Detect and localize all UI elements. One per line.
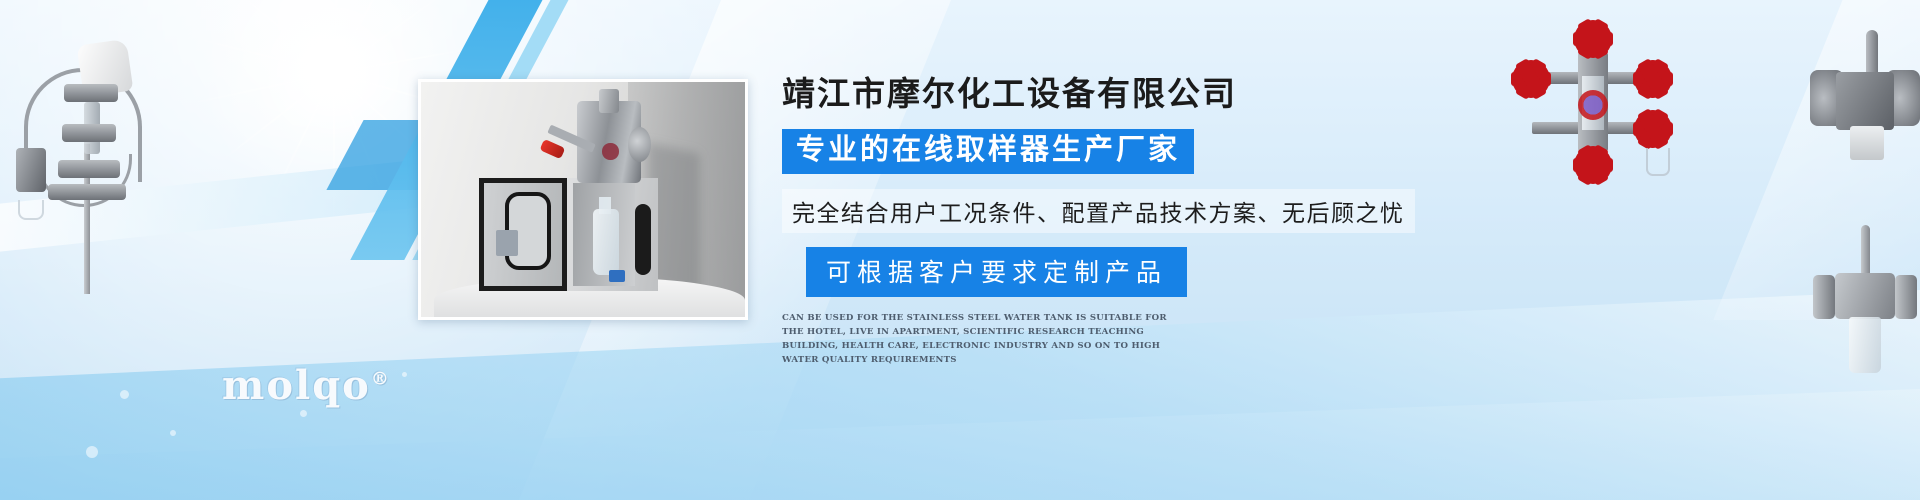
bubble-decor bbox=[402, 372, 407, 377]
bubble-decor bbox=[170, 430, 176, 436]
render-cross-valve-sampler bbox=[1510, 28, 1690, 178]
company-name: 靖江市摩尔化工设备有限公司 bbox=[782, 76, 1422, 112]
watermark-registered-icon: ® bbox=[371, 369, 391, 390]
bubble-decor bbox=[120, 390, 129, 399]
bubble-decor bbox=[86, 446, 98, 458]
watermark-text: molqo bbox=[222, 362, 371, 409]
render-flanged-lever-valve bbox=[1810, 30, 1920, 180]
watermark: molqo® bbox=[222, 362, 391, 409]
promo-banner: 靖江市摩尔化工设备有限公司 专业的在线取样器生产厂家 完全结合用户工况条件、配置… bbox=[0, 0, 1920, 500]
bubble-decor bbox=[300, 410, 307, 417]
tagline-secondary-badge: 可根据客户要求定制产品 bbox=[806, 247, 1187, 297]
headline-block: 靖江市摩尔化工设备有限公司 专业的在线取样器生产厂家 完全结合用户工况条件、配置… bbox=[782, 76, 1422, 367]
english-description: CAN BE USED FOR THE STAINLESS STEEL WATE… bbox=[782, 311, 1190, 368]
brand-emblem-icon bbox=[1578, 90, 1608, 120]
render-left-sampler bbox=[8, 24, 158, 294]
render-inline-sampling-valve bbox=[1805, 225, 1920, 385]
subline-text: 完全结合用户工况条件、配置产品技术方案、无后顾之忧 bbox=[782, 189, 1415, 233]
tagline-primary-badge: 专业的在线取样器生产厂家 bbox=[782, 129, 1194, 173]
product-photo bbox=[418, 79, 748, 320]
